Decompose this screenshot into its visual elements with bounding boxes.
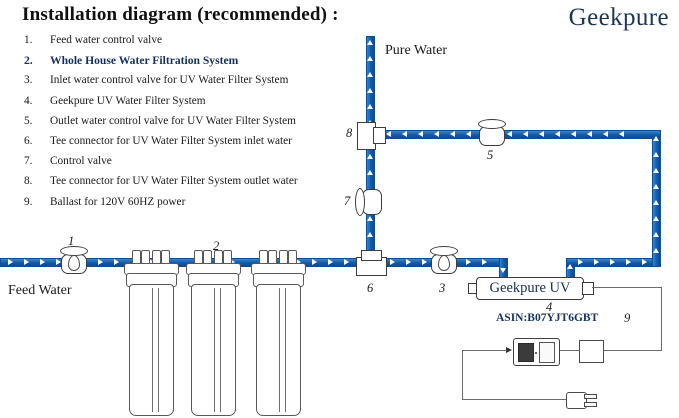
- plug-prong: [584, 394, 597, 399]
- pipe-right-riser: [652, 130, 661, 267]
- callout-7: 7: [344, 194, 350, 209]
- list-item: 5. Outlet water control valve for UV Wat…: [18, 115, 348, 135]
- list-item-label: Inlet water control valve for UV Water F…: [50, 74, 288, 86]
- list-item-number: 9.: [18, 196, 50, 208]
- list-item-label: Whole House Water Filtration System: [50, 54, 238, 67]
- list-item-number: 3.: [18, 74, 50, 86]
- pipe-uv-outlet-horizontal: [566, 258, 661, 267]
- ballast-left-wire: [462, 350, 507, 351]
- callout-1: 1: [68, 234, 74, 249]
- list-item-label: Geekpure UV Water Filter System: [50, 95, 206, 107]
- list-item: 3. Inlet water control valve for UV Wate…: [18, 74, 348, 94]
- legend-list: 1. Feed water control valve 2. Whole Hou…: [18, 34, 348, 216]
- list-item-number: 7.: [18, 155, 50, 167]
- list-item-label: Tee connector for UV Water Filter System…: [50, 175, 298, 187]
- list-item: 1. Feed water control valve: [18, 34, 348, 54]
- uv-outlet-port: [582, 282, 594, 295]
- power-cord-horizontal: [462, 399, 567, 400]
- list-item-label: Feed water control valve: [50, 34, 162, 46]
- uv-filter-unit: Geekpure UV: [476, 277, 584, 300]
- list-item: 4. Geekpure UV Water Filter System: [18, 95, 348, 115]
- callout-9: 9: [624, 311, 630, 326]
- callout-4: 4: [546, 300, 552, 315]
- uv-to-ballast-wire-top: [592, 287, 662, 288]
- ballast-unit: [513, 338, 560, 366]
- list-item-number: 5.: [18, 115, 50, 127]
- installation-diagram-page: Installation diagram (recommended) : Gee…: [0, 0, 679, 418]
- list-item: 6. Tee connector for UV Water Filter Sys…: [18, 135, 348, 155]
- list-item-label: Outlet water control valve for UV Water …: [50, 115, 296, 127]
- pipe-pure-water-outlet: [366, 36, 375, 132]
- list-item-number: 1.: [18, 34, 50, 46]
- list-item-label: Ballast for 120V 60HZ power: [50, 196, 185, 208]
- callout-5: 5: [487, 148, 493, 163]
- list-item-label: Control valve: [50, 155, 112, 167]
- connector-to-ballast-wire: [558, 350, 580, 351]
- page-title: Installation diagram (recommended) :: [22, 4, 339, 26]
- ballast-right-wire: [602, 350, 662, 351]
- pipe-top-return: [376, 130, 661, 139]
- list-item-number: 6.: [18, 135, 50, 147]
- power-cord-vertical: [462, 350, 463, 400]
- inline-connector: [579, 340, 604, 363]
- list-item: 8. Tee connector for UV Water Filter Sys…: [18, 175, 348, 195]
- feed-water-label: Feed Water: [8, 283, 72, 299]
- list-item: 9. Ballast for 120V 60HZ power: [18, 196, 348, 216]
- list-item-number: 2.: [18, 54, 50, 67]
- list-item-number: 4.: [18, 95, 50, 107]
- list-item: 7. Control valve: [18, 155, 348, 175]
- list-item-label: Tee connector for UV Water Filter System…: [50, 135, 292, 147]
- callout-2: 2: [213, 239, 219, 254]
- plug-prong: [584, 402, 597, 407]
- uv-unit-label: Geekpure UV: [490, 280, 571, 297]
- callout-6: 6: [367, 281, 373, 296]
- brand-logo: Geekpure: [569, 4, 669, 32]
- list-item-number: 8.: [18, 175, 50, 187]
- uv-to-ballast-wire-down: [661, 287, 662, 350]
- pure-water-label: Pure Water: [385, 43, 447, 59]
- callout-8: 8: [346, 126, 352, 141]
- list-item: 2. Whole House Water Filtration System: [18, 54, 348, 74]
- callout-3: 3: [439, 281, 445, 296]
